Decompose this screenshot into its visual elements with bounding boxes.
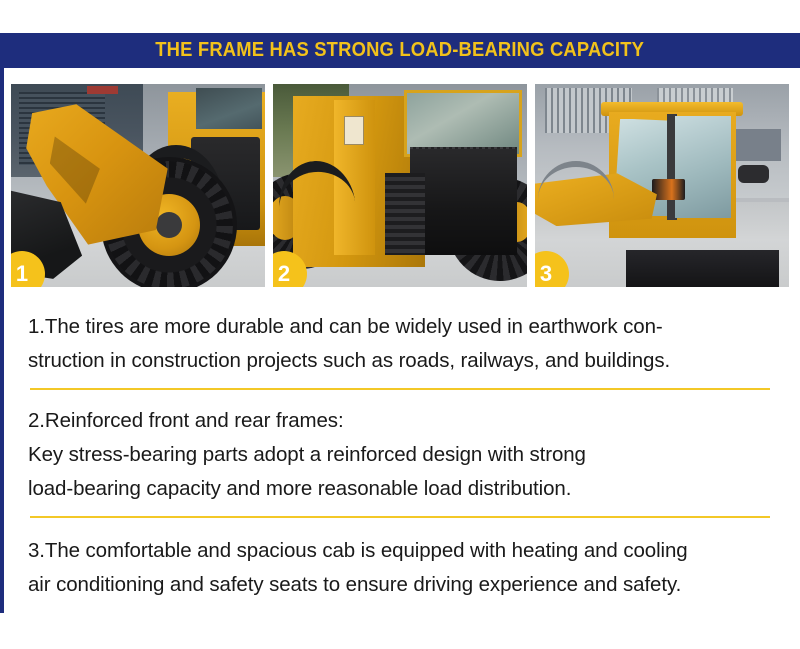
header-banner: THE FRAME HAS STRONG LOAD-BEARING CAPACI… (0, 33, 800, 68)
photo1-arm-shadow (50, 136, 100, 203)
photo3-exhaust (738, 165, 768, 183)
image-gallery: 1 2 (11, 84, 789, 287)
gallery-image-1[interactable]: 1 (11, 84, 265, 287)
gallery-image-3[interactable]: 3 (535, 84, 789, 287)
photo3-lower-chassis (626, 250, 778, 287)
photo3-door-glass (675, 116, 731, 218)
photo1-wheel-hub (156, 212, 182, 238)
feature-description: 1.The tires are more durable and can be … (0, 296, 800, 602)
photo1-red-object (87, 86, 117, 94)
feature-paragraph-cab: 3.The comfortable and spacious cab is eq… (0, 518, 800, 602)
photo3-window (736, 129, 782, 161)
gallery-image-2[interactable]: 2 (273, 84, 527, 287)
product-feature-page: THE FRAME HAS STRONG LOAD-BEARING CAPACI… (0, 0, 800, 649)
page-title: THE FRAME HAS STRONG LOAD-BEARING CAPACI… (156, 39, 645, 62)
photo2-counterweight (410, 149, 517, 255)
photo3-work-lamp (652, 179, 685, 199)
photo1-cab-glass (196, 88, 262, 129)
photo2-hydraulics (385, 173, 426, 254)
feature-paragraph-tires: 1.The tires are more durable and can be … (0, 296, 800, 388)
photo2-spec-plate (344, 116, 364, 144)
feature-paragraph-frames: 2.Reinforced front and rear frames: Key … (0, 390, 800, 516)
